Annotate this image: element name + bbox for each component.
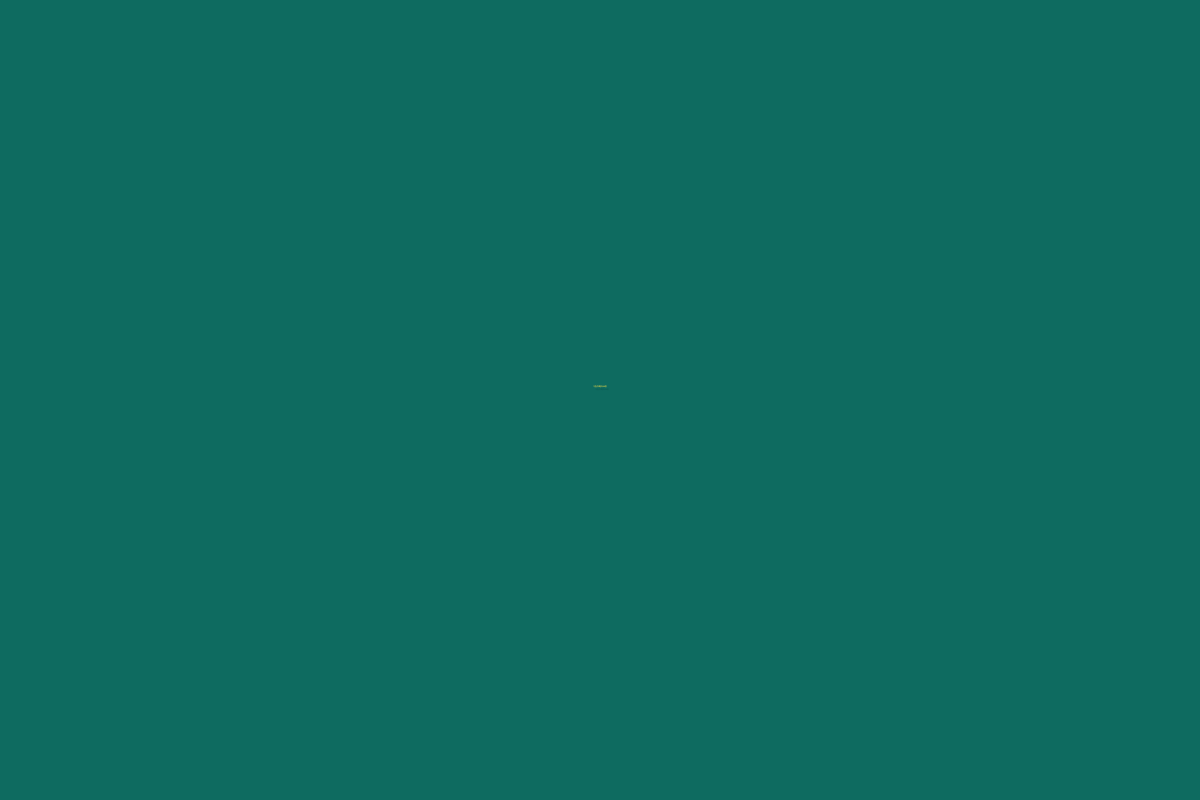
title-banner: 부동산거래관리시스템 오피스텔 적용 여부 <box>0 0 1200 800</box>
page-title: 부동산거래관리시스템 오피스텔 적용 여부 <box>0 387 1200 389</box>
